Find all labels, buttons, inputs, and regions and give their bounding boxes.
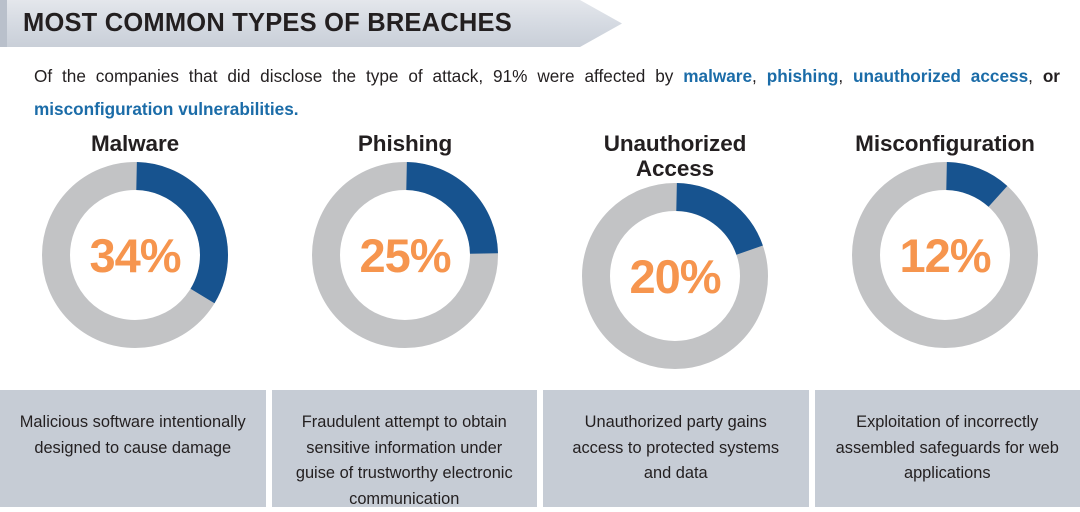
caption-box-phishing: Fraudulent attempt to obtain sensitive i… xyxy=(272,390,538,507)
keyword-phishing: phishing xyxy=(767,66,839,86)
donut-percent-malware: 34% xyxy=(42,162,228,348)
donut-card-unauthorized-access: Unauthorized Access 20% xyxy=(540,131,810,383)
donut-card-phishing: Phishing 25% xyxy=(270,131,540,383)
donut-title-malware: Malware xyxy=(91,131,179,156)
intro-separator-3: , xyxy=(1028,66,1043,86)
donut-percent-phishing: 25% xyxy=(312,162,498,348)
intro-separator-2: , xyxy=(838,66,853,86)
keyword-unauthorized-access: unauthorized access xyxy=(853,66,1028,86)
donut-percent-unauthorized-access: 20% xyxy=(582,183,768,369)
donut-title-misconfiguration: Misconfiguration xyxy=(855,131,1035,156)
donut-card-malware: Malware 34% xyxy=(0,131,270,383)
keyword-malware: malware xyxy=(683,66,752,86)
donut-title-phishing: Phishing xyxy=(358,131,452,156)
donut-card-misconfiguration: Misconfiguration 12% xyxy=(810,131,1080,383)
caption-text: Unauthorized party gains access to prote… xyxy=(557,410,795,487)
keyword-misconfiguration: misconfiguration vulnerabilities. xyxy=(34,99,299,119)
donut-chart-misconfiguration: 12% xyxy=(852,162,1038,348)
caption-strip: Malicious software intentionally designe… xyxy=(0,390,1080,507)
caption-text: Exploitation of incorrectly assembled sa… xyxy=(829,410,1067,487)
intro-segment-1: Of the companies that did disclose the t… xyxy=(34,66,683,86)
caption-text: Malicious software intentionally designe… xyxy=(14,410,252,461)
page-title: MOST COMMON TYPES OF BREACHES xyxy=(23,9,512,38)
intro-paragraph: Of the companies that did disclose the t… xyxy=(34,60,1060,126)
donut-chart-malware: 34% xyxy=(42,162,228,348)
caption-text: Fraudulent attempt to obtain sensitive i… xyxy=(286,410,524,512)
donut-chart-unauthorized-access: 20% xyxy=(582,183,768,369)
intro-separator-1: , xyxy=(752,66,767,86)
donut-percent-misconfiguration: 12% xyxy=(852,162,1038,348)
caption-box-malware: Malicious software intentionally designe… xyxy=(0,390,266,507)
header-accent-bar xyxy=(0,0,7,47)
caption-box-unauthorized-access: Unauthorized party gains access to prote… xyxy=(543,390,809,507)
intro-conjunction: or xyxy=(1043,66,1060,86)
header-banner: MOST COMMON TYPES OF BREACHES xyxy=(0,0,622,47)
donut-chart-phishing: 25% xyxy=(312,162,498,348)
donut-title-unauthorized-access: Unauthorized Access xyxy=(604,131,747,181)
caption-box-misconfiguration: Exploitation of incorrectly assembled sa… xyxy=(815,390,1080,507)
donut-chart-row: Malware 34% Phishing 25% Unauthorized Ac… xyxy=(0,131,1080,383)
